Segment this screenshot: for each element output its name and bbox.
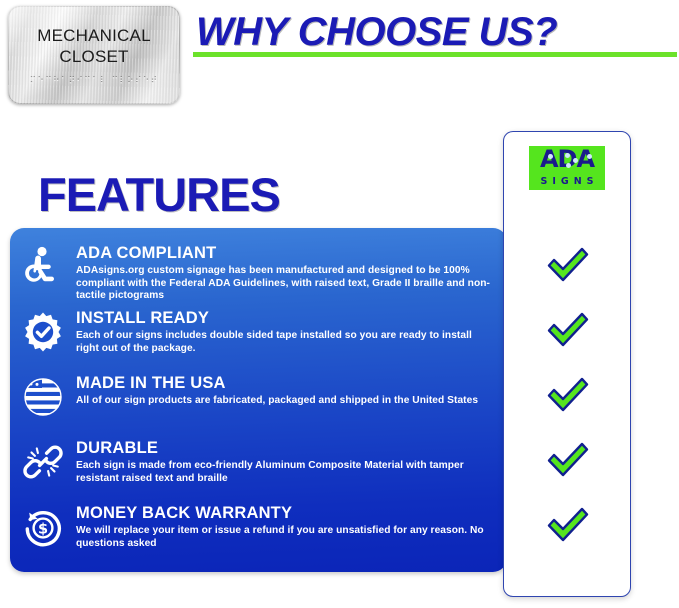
logo-braille-dot [565,153,570,158]
logo-braille-dot [573,158,578,163]
feature-row: INSTALL READY Each of our signs includes… [10,309,507,355]
logo-braille-dot [566,163,571,168]
page-title: WHY CHOOSE US? [196,10,557,55]
features-heading: FEATURES [38,167,280,222]
feature-text: INSTALL READY Each of our signs includes… [76,309,507,355]
logo-braille-dot [587,154,592,159]
feature-row: DURABLE Each sign is made from eco-frien… [10,439,507,485]
logo-signs-text: SIGNS [529,176,605,187]
usa-flag-circle-icon [10,374,76,418]
feature-text: DURABLE Each sign is made from eco-frien… [76,439,507,485]
checkmarks-card: ADA SIGNS [503,131,631,597]
feature-description: We will replace your item or issue a ref… [76,525,497,550]
header-underline-rule [193,52,677,57]
mechanical-closet-sign: MECHANICAL CLOSET ⠍⠑⠉⠓⠁⠝⠊⠉⠁⠇ ⠉⠇⠕⠎⠑⠞ [8,6,180,104]
logo-ada-text: ADA [529,147,605,172]
feature-row: $ MONEY BACK WARRANTY We will replace yo… [10,504,507,550]
feature-title: DURABLE [76,439,497,458]
feature-text: MONEY BACK WARRANTY We will replace your… [76,504,507,550]
checkmark-icon [546,440,590,478]
feature-description: ADAsigns.org custom signage has been man… [76,265,497,303]
checkmark-icon [546,310,590,348]
feature-description: Each sign is made from eco-friendly Alum… [76,460,497,485]
broken-chain-link-icon [10,439,76,483]
checkmark-icon [546,375,590,413]
sign-line-1: MECHANICAL [8,25,180,46]
feature-title: ADA COMPLIANT [76,244,497,263]
checkmark-icon [546,245,590,283]
checkmark-icon [546,505,590,543]
feature-row: ADA COMPLIANT ADAsigns.org custom signag… [10,244,507,303]
feature-text: ADA COMPLIANT ADAsigns.org custom signag… [76,244,507,303]
wheelchair-accessible-icon [10,244,76,288]
logo-braille-dot [548,154,553,159]
money-back-dollar-icon: $ [10,504,76,548]
ada-signs-logo: ADA SIGNS [529,146,605,190]
feature-title: MONEY BACK WARRANTY [76,504,497,523]
feature-description: All of our sign products are fabricated,… [76,395,497,408]
svg-text:$: $ [38,521,48,537]
feature-title: MADE IN THE USA [76,374,497,393]
feature-description: Each of our signs includes double sided … [76,330,497,355]
feature-row: MADE IN THE USA All of our sign products… [10,374,507,418]
feature-title: INSTALL READY [76,309,497,328]
sign-braille-row: ⠍⠑⠉⠓⠁⠝⠊⠉⠁⠇ ⠉⠇⠕⠎⠑⠞ [8,76,180,86]
feature-text: MADE IN THE USA All of our sign products… [76,374,507,408]
sign-text-block: MECHANICAL CLOSET [8,25,180,67]
sign-line-2: CLOSET [8,46,180,67]
features-panel: ADA COMPLIANT ADAsigns.org custom signag… [10,228,507,572]
gear-check-icon [10,309,76,353]
